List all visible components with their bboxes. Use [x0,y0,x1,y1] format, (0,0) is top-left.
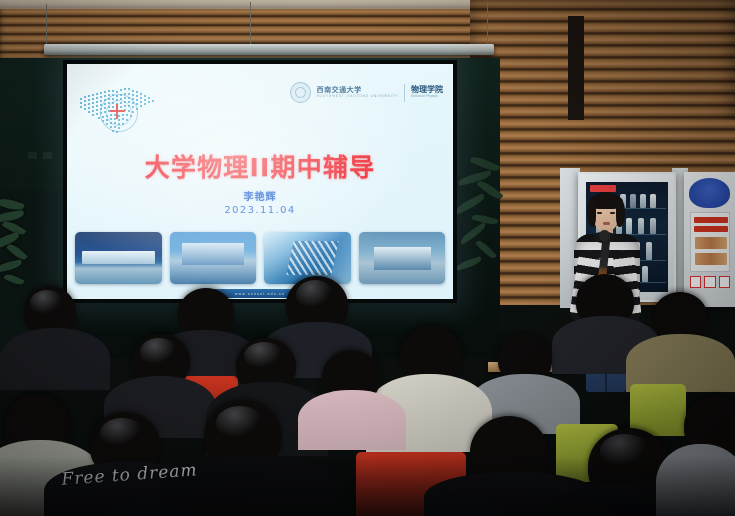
lecture-hall-photo: 西南交通大学 SOUTHWEST JIAOTONG UNIVERSITY 物理学… [0,0,735,516]
wall-mark [28,152,37,159]
projection-screen: 西南交通大学 SOUTHWEST JIAOTONG UNIVERSITY 物理学… [63,60,457,303]
audience-shoulders [656,444,735,516]
slide-date: 2023.11.04 [67,205,453,216]
speaker-eye [610,212,615,214]
audience-shoulders [298,390,406,450]
university-name-cn: 西南交通大学 [317,87,398,94]
speaker-eye [597,212,602,214]
university-seal-icon [290,82,311,103]
hanging-wire [250,2,251,46]
vending-brand-label [590,185,616,192]
hanging-wire [487,2,488,46]
china-map-icon [74,82,166,140]
vending-machine-header-graphic [689,178,730,208]
jacket-signature-text: Free to dream [61,462,173,506]
speaker-mouth [603,222,610,225]
speaker-hair-side [587,200,596,227]
university-logo: 西南交通大学 SOUTHWEST JIAOTONG UNIVERSITY 物理学… [290,82,443,103]
department-name-en: School of Physics [411,95,443,98]
department-name-cn: 物理学院 [411,86,443,94]
ceiling-light-bar [44,44,494,55]
presentation-slide: 西南交通大学 SOUTHWEST JIAOTONG UNIVERSITY 物理学… [67,64,453,299]
microphone-head [599,230,610,241]
wall-mark [43,152,52,159]
logo-divider [404,84,405,102]
slide-title: 大学物理II期中辅导 [67,148,453,184]
audience-shoulders [0,328,110,390]
vending-machine-poster [690,212,730,272]
slide-author: 李艳辉 [67,188,453,203]
hanging-wire [46,4,47,46]
map-crosshair-icon [110,104,125,119]
speaker-hair-side [616,200,625,227]
university-name-en: SOUTHWEST JIAOTONG UNIVERSITY [317,95,398,98]
